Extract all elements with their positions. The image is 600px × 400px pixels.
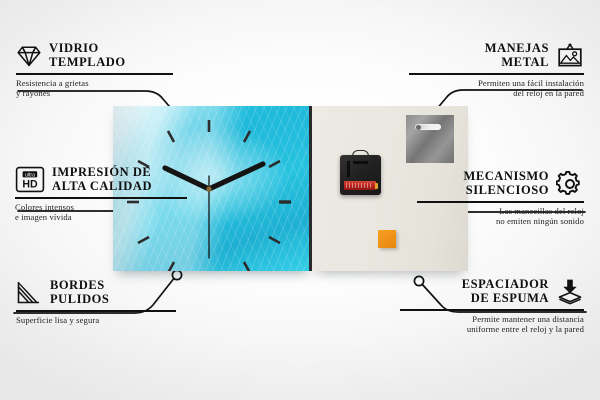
gear-icon bbox=[556, 171, 584, 197]
feature-subtitle-line: Permiten una fácil instalación bbox=[409, 78, 584, 88]
feature-divider bbox=[417, 201, 584, 203]
feature-subtitle-line: Permite mantener una distancia bbox=[400, 314, 584, 324]
hanger-hole bbox=[416, 125, 421, 130]
feature-heading: VIDRIO TEMPLADO bbox=[16, 42, 191, 69]
foam-spacer-icon bbox=[556, 278, 584, 305]
feature-heading: ESPACIADOR DE ESPUMA bbox=[400, 278, 584, 305]
feature-divider bbox=[400, 309, 584, 311]
feature-subtitle-line: uniforme entre el reloj y la pared bbox=[400, 324, 584, 334]
feature-heading: BORDES PULIDOS bbox=[16, 279, 191, 306]
feature-espaciador-de-espuma: ESPACIADOR DE ESPUMA Permite mantener un… bbox=[400, 278, 584, 334]
feature-subtitle-line: no emiten ningún sonido bbox=[417, 216, 584, 226]
feature-impresion-alta-calidad: ultra HD IMPRESIÓN DE ALTA CALIDAD Color… bbox=[15, 166, 205, 222]
feature-vidrio-templado: VIDRIO TEMPLADO Resistencia a grietas y … bbox=[16, 42, 191, 98]
feature-manejas-metal: MANEJAS METAL Permiten una fácil instala… bbox=[409, 42, 584, 98]
polished-edge-icon bbox=[16, 280, 43, 305]
mechanism-detail-horizontal bbox=[353, 161, 368, 164]
svg-text:ultra: ultra bbox=[25, 172, 35, 178]
feature-divider bbox=[409, 73, 584, 75]
feature-subtitle-line: del reloj en la pared bbox=[409, 88, 584, 98]
feature-mecanismo-silencioso: MECANISMO SILENCIOSO Las manecillas del … bbox=[417, 170, 584, 226]
feature-title: VIDRIO TEMPLADO bbox=[49, 42, 126, 69]
feature-divider bbox=[16, 73, 173, 75]
feature-title: ESPACIADOR DE ESPUMA bbox=[462, 278, 549, 305]
feature-heading: MANEJAS METAL bbox=[409, 42, 584, 69]
svg-text:HD: HD bbox=[22, 179, 38, 191]
clock-center-cap bbox=[206, 186, 211, 191]
metal-hanger-plate bbox=[406, 115, 454, 163]
feature-title: IMPRESIÓN DE ALTA CALIDAD bbox=[52, 166, 152, 193]
ultra-hd-icon: ultra HD bbox=[15, 166, 45, 193]
feature-subtitle-line: e imagen vívida bbox=[15, 212, 205, 222]
feature-heading: ultra HD IMPRESIÓN DE ALTA CALIDAD bbox=[15, 166, 205, 193]
feature-subtitle-line: Superficie lisa y segura bbox=[16, 315, 191, 325]
feature-subtitle-line: y rayones bbox=[16, 88, 191, 98]
feature-title: BORDES PULIDOS bbox=[50, 279, 109, 306]
hanging-frame-icon bbox=[556, 43, 584, 69]
battery bbox=[344, 181, 376, 190]
feature-subtitle-line: Las manecillas del reloj bbox=[417, 206, 584, 216]
feature-bordes-pulidos: BORDES PULIDOS Superficie lisa y segura bbox=[16, 279, 191, 325]
mechanism-detail-vertical bbox=[347, 161, 350, 177]
foam-spacer-pad bbox=[378, 230, 396, 248]
feature-heading: MECANISMO SILENCIOSO bbox=[417, 170, 584, 197]
battery-label bbox=[346, 183, 373, 188]
feature-title: MECANISMO SILENCIOSO bbox=[463, 170, 549, 197]
mechanism-hook bbox=[352, 150, 369, 159]
feature-title: MANEJAS METAL bbox=[485, 42, 549, 69]
feature-divider bbox=[15, 197, 187, 199]
clock-mechanism bbox=[340, 155, 381, 195]
feature-subtitle-line: Colores intensos bbox=[15, 202, 205, 212]
feature-divider bbox=[16, 310, 176, 312]
diamond-icon bbox=[16, 44, 42, 68]
feature-subtitle-line: Resistencia a grietas bbox=[16, 78, 191, 88]
minute-hand bbox=[209, 164, 263, 189]
infographic-canvas: VIDRIO TEMPLADO Resistencia a grietas y … bbox=[0, 0, 600, 400]
